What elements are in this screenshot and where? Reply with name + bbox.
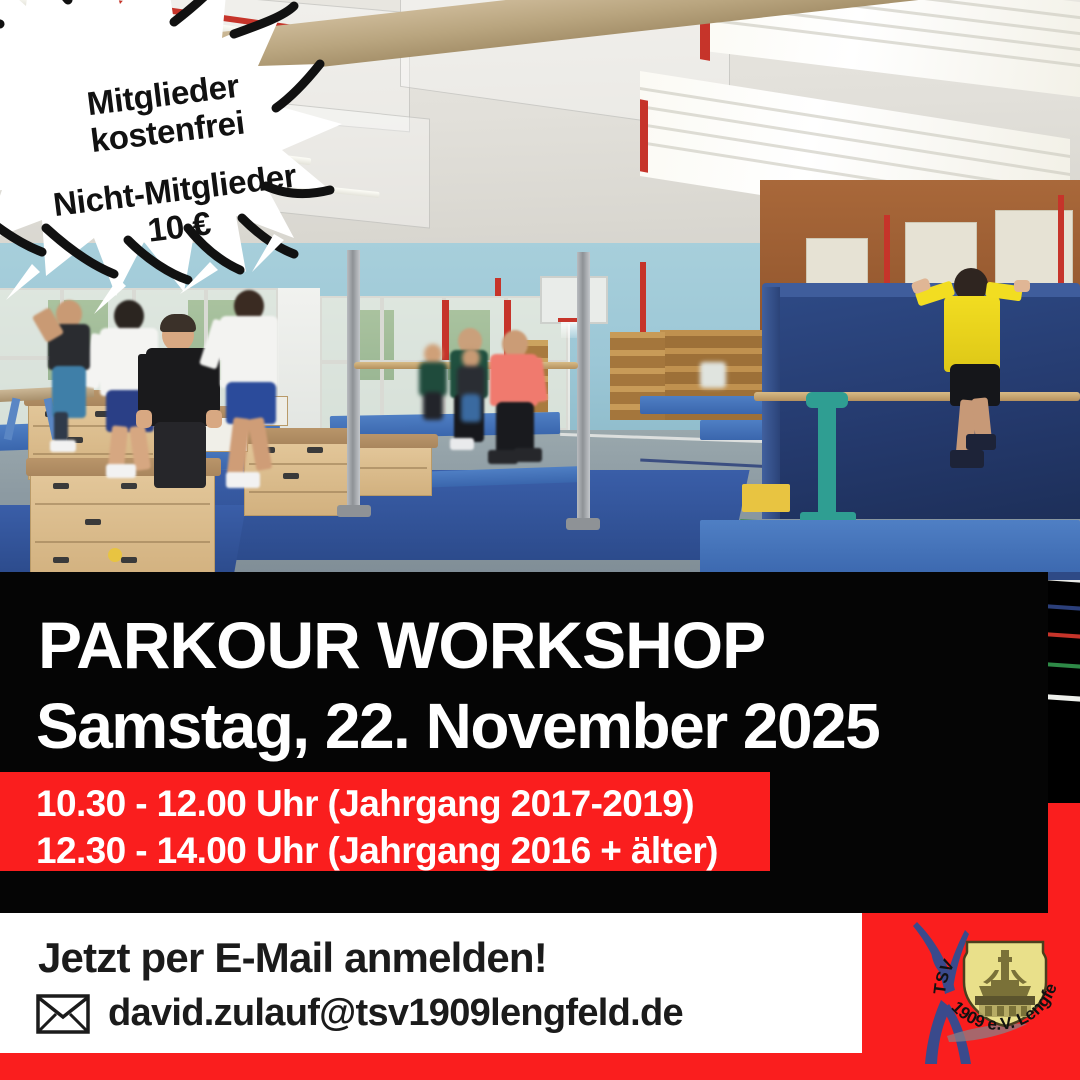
- bar-stand-head: [806, 392, 848, 408]
- floor-mat: [700, 520, 1080, 580]
- page-title: PARKOUR WORKSHOP: [38, 612, 765, 678]
- person-child: [452, 348, 492, 432]
- poster: Mitglieder kostenfrei Nicht-Mitglieder 1…: [0, 0, 1080, 1080]
- person-walking: [484, 330, 550, 472]
- box-sticker: [108, 548, 122, 562]
- cta-text: Jetzt per E-Mail anmelden!: [38, 934, 547, 982]
- session-time-2: 12.30 - 14.00 Uhr (Jahrgang 2016 + älter…: [36, 830, 718, 872]
- email-row[interactable]: david.zulauf@tsv1909lengfeld.de: [36, 992, 683, 1035]
- vault-box-top: [348, 434, 438, 448]
- email-address[interactable]: david.zulauf@tsv1909lengfeld.de: [108, 992, 683, 1035]
- red-trim: [640, 99, 648, 172]
- session-time-1: 10.30 - 12.00 Uhr (Jahrgang 2017-2019): [36, 783, 694, 825]
- burst-text-block: Mitglieder kostenfrei Nicht-Mitglieder 1…: [0, 0, 415, 355]
- price-burst-badge: Mitglieder kostenfrei Nicht-Mitglieder 1…: [0, 0, 392, 328]
- pole-base: [566, 518, 600, 530]
- person-climbing: [930, 268, 1020, 478]
- equipment-item: [700, 362, 726, 388]
- person-child: [414, 344, 454, 430]
- equipment-pole: [577, 252, 590, 520]
- bar-stand: [818, 398, 836, 516]
- envelope-icon: [36, 994, 90, 1034]
- vault-box: [352, 444, 432, 496]
- parallel-bar: [754, 392, 1080, 401]
- yellow-pad: [742, 484, 790, 512]
- club-logo: TSV 1909 e.V. Lengfeld: [905, 920, 1065, 1068]
- tsv-lengfeld-crest-icon: TSV 1909 e.V. Lengfeld: [905, 920, 1065, 1068]
- photo-sliver: [1048, 572, 1080, 803]
- pole-base: [337, 505, 371, 517]
- basketball-backboard: [540, 276, 608, 324]
- event-date: Samstag, 22. November 2025: [36, 694, 879, 758]
